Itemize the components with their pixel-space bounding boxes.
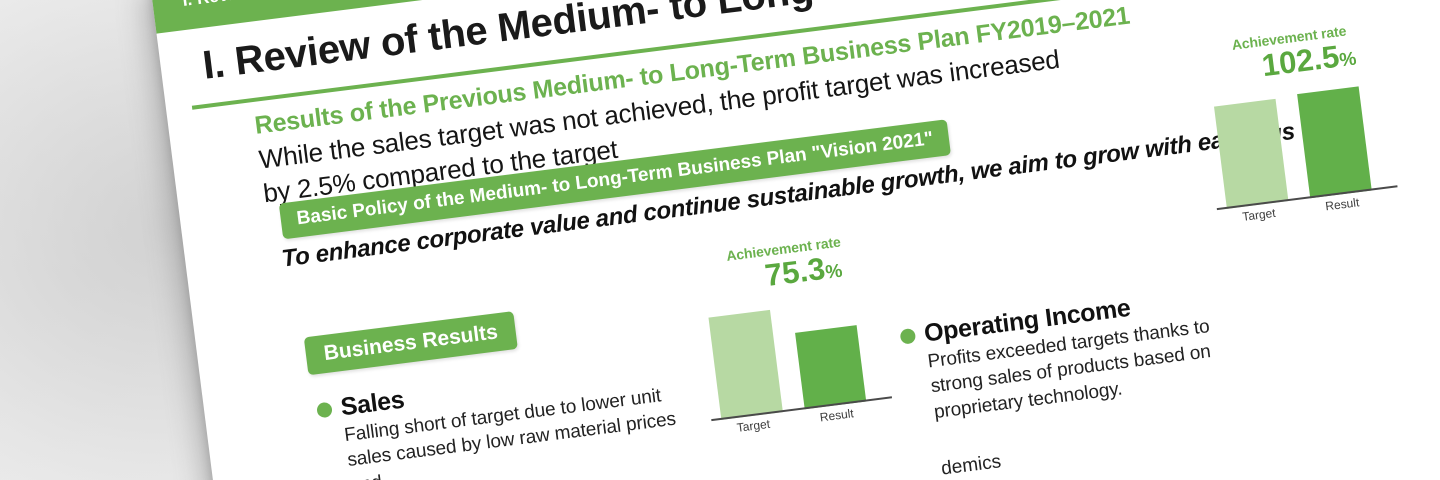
slide-page-rotated: I. Review of the Medium- to Long-Term Bu… [150, 0, 1440, 480]
chart-sales-plot [695, 280, 898, 421]
business-results-item-operating-income: Operating Income Profits exceeded target… [899, 278, 1269, 429]
cut-off-note: demics [940, 451, 1002, 480]
slide-page: I. Review of the Medium- to Long-Term Bu… [150, 0, 1440, 480]
business-results-banner: Business Results [304, 311, 518, 375]
business-results-item-sales: Sales Falling short of target due to low… [315, 349, 705, 480]
screenshot-stage: I. Review of the Medium- to Long-Term Bu… [0, 0, 1440, 480]
chart-income-bar-result [1297, 86, 1372, 198]
chart-income-value-unit: % [1338, 48, 1357, 71]
chart-sales-value-unit: % [824, 261, 843, 284]
chart-income-bar-target [1214, 99, 1288, 209]
bullet-dot-icon [316, 402, 333, 419]
chart-sales-bar-result [795, 325, 866, 409]
chart-sales-bar-target [709, 310, 783, 420]
chart-sales-value-number: 75.3 [763, 251, 827, 293]
chart-sales-achievement: Achievement rate 75.3% Target Result [688, 229, 900, 442]
chart-operating-income-achievement: Achievement rate 102.5% Target Result [1194, 18, 1406, 231]
bullet-dot-icon [900, 328, 917, 345]
chart-income-plot [1200, 69, 1403, 210]
